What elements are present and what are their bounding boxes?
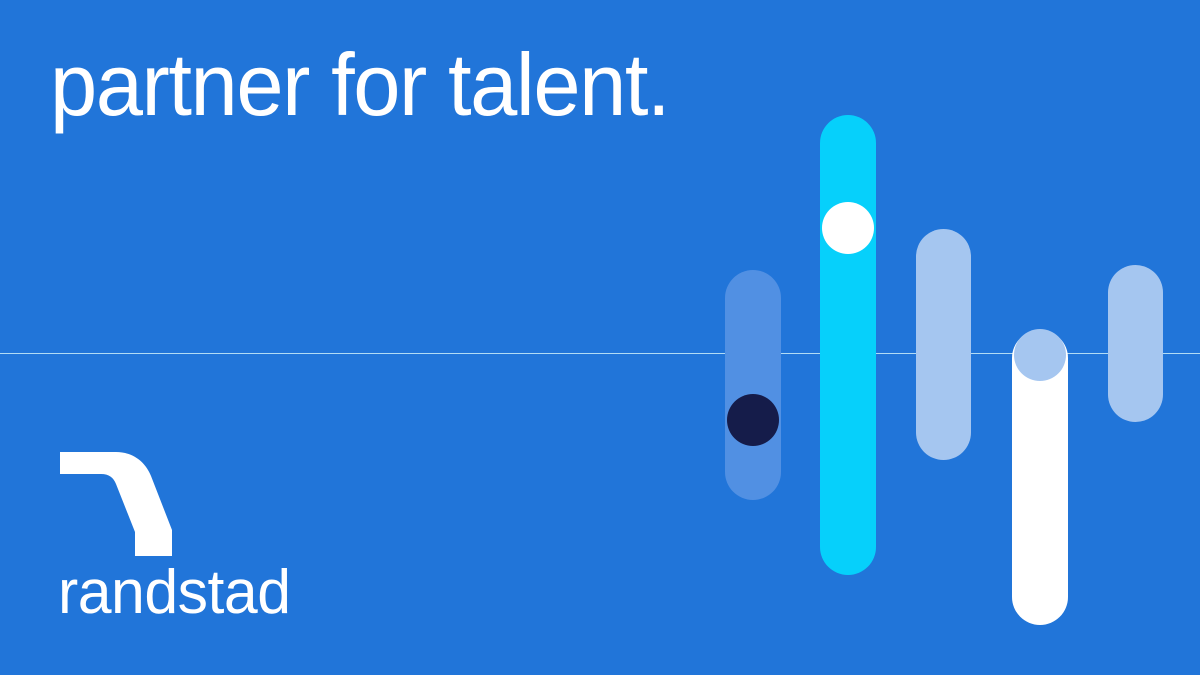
bar-2: [820, 115, 876, 575]
marker-white-dot: [822, 202, 874, 254]
marker-navy-dot: [727, 394, 779, 446]
bar-5: [1108, 265, 1163, 422]
bar-3: [916, 229, 971, 460]
brand-logo: randstad: [58, 452, 318, 632]
banner-canvas: partner for talent. randstad: [0, 0, 1200, 675]
brand-wordmark: randstad: [58, 562, 291, 624]
randstad-logo-mark: [60, 452, 256, 556]
bar-1: [725, 270, 781, 500]
marker-periwinkle-dot: [1014, 329, 1066, 381]
